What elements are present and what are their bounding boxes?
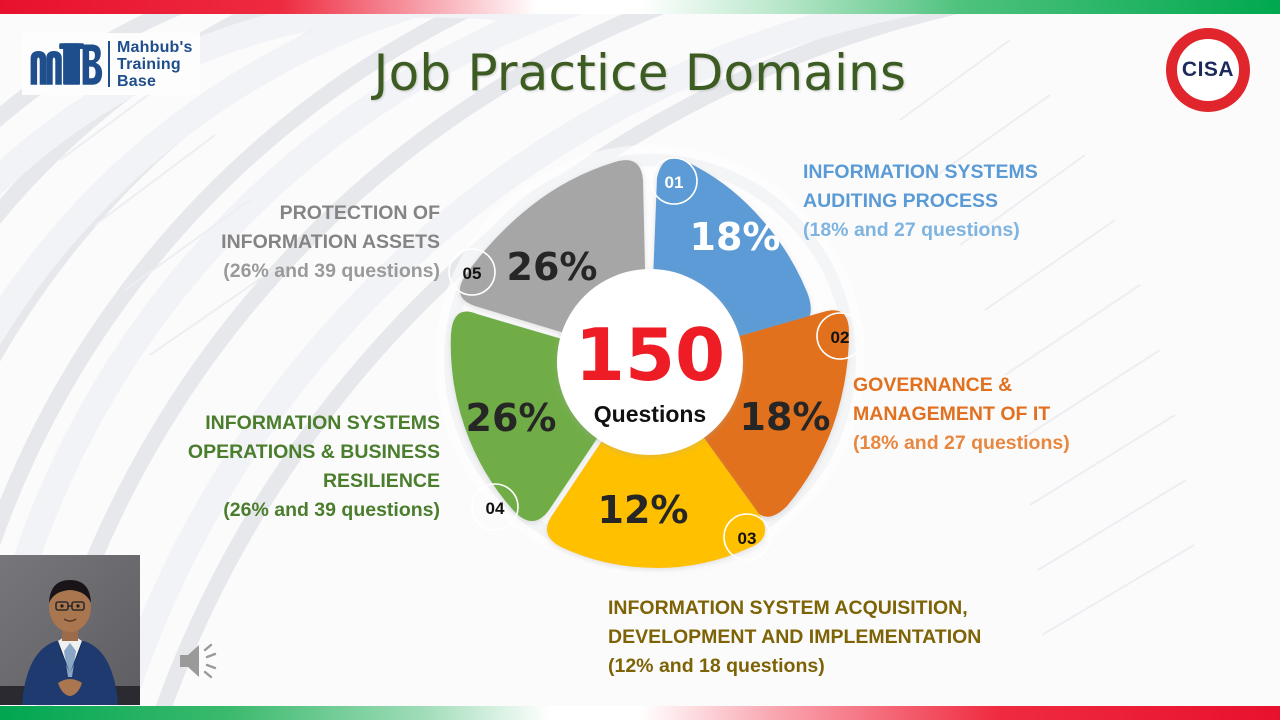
bottom-accent-bar	[0, 706, 1280, 720]
domain-label-03-detail: (12% and 18 questions)	[608, 652, 1068, 681]
domain-label-03-line1: INFORMATION SYSTEM ACQUISITION,	[608, 597, 968, 619]
domain-label-03: INFORMATION SYSTEM ACQUISITION, DEVELOPM…	[608, 594, 1068, 681]
chart-percent-01: 18%	[690, 215, 781, 259]
domain-label-01-line2: AUDITING PROCESS	[803, 190, 998, 212]
domain-label-04-line3: RESILIENCE	[323, 470, 440, 492]
domain-label-05: PROTECTION OF INFORMATION ASSETS (26% an…	[150, 199, 440, 286]
domain-label-04: INFORMATION SYSTEMS OPERATIONS & BUSINES…	[150, 409, 440, 525]
chart-percent-02: 18%	[740, 395, 831, 439]
svg-text:02: 02	[831, 328, 850, 347]
presenter-video[interactable]	[0, 555, 140, 705]
slide-canvas: Mahbub's Training Base CISA Job Practice…	[0, 0, 1280, 720]
domain-label-01-line1: INFORMATION SYSTEMS	[803, 161, 1038, 183]
domain-label-02-line2: MANAGEMENT OF IT	[853, 403, 1050, 425]
svg-text:04: 04	[486, 499, 505, 518]
chart-percent-03: 12%	[598, 488, 689, 532]
speaker-icon[interactable]	[176, 640, 224, 682]
chart-center-caption: Questions	[594, 401, 706, 427]
chart-center-value: 150	[575, 313, 725, 397]
svg-text:03: 03	[738, 529, 757, 548]
domain-label-05-line1: PROTECTION OF	[280, 202, 440, 224]
presenter-portrait	[0, 555, 140, 705]
domain-label-01: INFORMATION SYSTEMS AUDITING PROCESS (18…	[803, 158, 1103, 245]
domain-label-05-detail: (26% and 39 questions)	[150, 257, 440, 286]
domain-label-04-line1: INFORMATION SYSTEMS	[205, 412, 440, 434]
domain-label-05-line2: INFORMATION ASSETS	[221, 231, 440, 253]
domain-label-02: GOVERNANCE & MANAGEMENT OF IT (18% and 2…	[853, 371, 1153, 458]
chart-percent-05: 26%	[507, 245, 598, 289]
svg-text:01: 01	[665, 173, 684, 192]
domain-label-04-detail: (26% and 39 questions)	[150, 496, 440, 525]
domain-label-04-line2: OPERATIONS & BUSINESS	[188, 441, 440, 463]
domain-label-02-line1: GOVERNANCE &	[853, 374, 1012, 396]
top-accent-bar	[0, 0, 1280, 14]
domain-label-02-detail: (18% and 27 questions)	[853, 429, 1153, 458]
domain-label-01-detail: (18% and 27 questions)	[803, 216, 1103, 245]
domain-label-03-line2: DEVELOPMENT AND IMPLEMENTATION	[608, 626, 981, 648]
page-title: Job Practice Domains	[0, 44, 1280, 102]
svg-text:05: 05	[463, 264, 482, 283]
chart-percent-04: 26%	[466, 396, 557, 440]
